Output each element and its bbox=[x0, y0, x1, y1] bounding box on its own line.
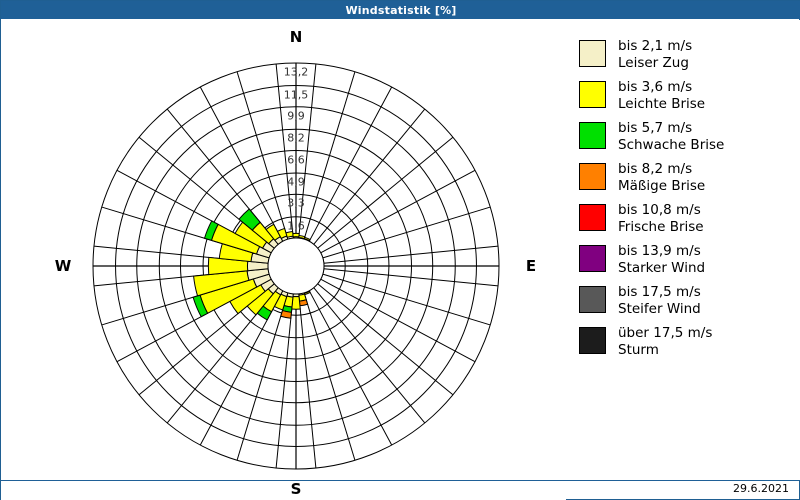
grid-spoke bbox=[323, 207, 490, 258]
legend-label: bis 13,9 m/sStarker Wind bbox=[618, 243, 705, 277]
legend-label-speed: über 17,5 m/s bbox=[618, 325, 712, 342]
legend-label-name: Steifer Wind bbox=[618, 301, 701, 318]
legend-label-speed: bis 2,1 m/s bbox=[618, 38, 692, 55]
legend-item[interactable]: bis 10,8 m/sFrische Brise bbox=[579, 202, 800, 236]
radial-tick-label: 4,9 bbox=[287, 176, 305, 189]
legend-item[interactable]: über 17,5 m/sSturm bbox=[579, 325, 800, 359]
legend-swatch bbox=[579, 163, 606, 190]
legend-item[interactable]: bis 5,7 m/sSchwache Brise bbox=[579, 120, 800, 154]
window-title: Windstatistik [%] bbox=[345, 4, 456, 17]
legend-swatch bbox=[579, 286, 606, 313]
legend-label: über 17,5 m/sSturm bbox=[618, 325, 712, 359]
legend-label-speed: bis 3,6 m/s bbox=[618, 79, 705, 96]
legend-label: bis 5,7 m/sSchwache Brise bbox=[618, 120, 724, 154]
legend-swatch bbox=[579, 81, 606, 108]
radial-tick-label: 1,6 bbox=[287, 219, 305, 232]
date-stamp: 29.6.2021 bbox=[733, 482, 789, 495]
compass-label-west: W bbox=[55, 257, 72, 275]
legend-item[interactable]: bis 17,5 m/sSteifer Wind bbox=[579, 284, 800, 318]
legend-label: bis 2,1 m/sLeiser Zug bbox=[618, 38, 692, 72]
compass-label-south: S bbox=[291, 480, 302, 498]
wind-petal-segment bbox=[281, 311, 292, 319]
legend-item[interactable]: bis 2,1 m/sLeiser Zug bbox=[579, 38, 800, 72]
legend-label: bis 17,5 m/sSteifer Wind bbox=[618, 284, 701, 318]
radial-tick-label: 3,3 bbox=[287, 197, 305, 210]
legend-label-speed: bis 13,9 m/s bbox=[618, 243, 705, 260]
legend-label-speed: bis 10,8 m/s bbox=[618, 202, 704, 219]
wind-statistics-window: Windstatistik [%] N E S W 1,63,34,96,68,… bbox=[0, 0, 800, 500]
legend-swatch bbox=[579, 40, 606, 67]
grid-spoke bbox=[304, 72, 355, 239]
legend-item[interactable]: bis 3,6 m/sLeichte Brise bbox=[579, 79, 800, 113]
legend-swatch bbox=[579, 327, 606, 354]
grid-spoke bbox=[323, 274, 490, 325]
radial-tick-label: 11,5 bbox=[284, 88, 309, 101]
compass-label-north: N bbox=[290, 28, 303, 46]
legend-item[interactable]: bis 8,2 m/sMäßige Brise bbox=[579, 161, 800, 195]
legend-label-name: Mäßige Brise bbox=[618, 178, 705, 195]
compass-label-east: E bbox=[526, 257, 536, 275]
legend-label: bis 8,2 m/sMäßige Brise bbox=[618, 161, 705, 195]
grid-spoke bbox=[304, 293, 355, 460]
legend-label-name: Schwache Brise bbox=[618, 137, 724, 154]
legend: bis 2,1 m/sLeiser Zugbis 3,6 m/sLeichte … bbox=[567, 20, 800, 480]
legend-label-name: Sturm bbox=[618, 342, 712, 359]
legend-swatch bbox=[579, 245, 606, 272]
wind-rose-plot: N E S W 1,63,34,96,68,29,911,513,2 bbox=[1, 19, 566, 500]
radial-tick-label: 6,6 bbox=[287, 153, 305, 166]
wind-petal-segment bbox=[299, 300, 307, 306]
grid-spoke bbox=[237, 293, 288, 460]
calm-circle-fill bbox=[268, 238, 324, 294]
legend-label-name: Frische Brise bbox=[618, 219, 704, 236]
window-title-bar: Windstatistik [%] bbox=[1, 1, 800, 19]
radial-tick-label: 13,2 bbox=[284, 66, 309, 79]
wind-petal-segment bbox=[293, 233, 299, 236]
radial-tick-label: 8,2 bbox=[287, 132, 305, 145]
legend-item[interactable]: bis 13,9 m/sStarker Wind bbox=[579, 243, 800, 277]
legend-swatch bbox=[579, 122, 606, 149]
legend-label: bis 3,6 m/sLeichte Brise bbox=[618, 79, 705, 113]
radial-tick-label: 9,9 bbox=[287, 109, 305, 122]
legend-label: bis 10,8 m/sFrische Brise bbox=[618, 202, 704, 236]
legend-swatch bbox=[579, 204, 606, 231]
legend-label-speed: bis 8,2 m/s bbox=[618, 161, 705, 178]
legend-label-name: Starker Wind bbox=[618, 260, 705, 277]
legend-label-name: Leiser Zug bbox=[618, 55, 692, 72]
wind-petal-segment bbox=[286, 232, 293, 238]
calm-circle bbox=[268, 238, 324, 294]
footer-divider bbox=[1, 480, 800, 481]
legend-label-speed: bis 5,7 m/s bbox=[618, 120, 724, 137]
legend-label-speed: bis 17,5 m/s bbox=[618, 284, 701, 301]
legend-label-name: Leichte Brise bbox=[618, 96, 705, 113]
